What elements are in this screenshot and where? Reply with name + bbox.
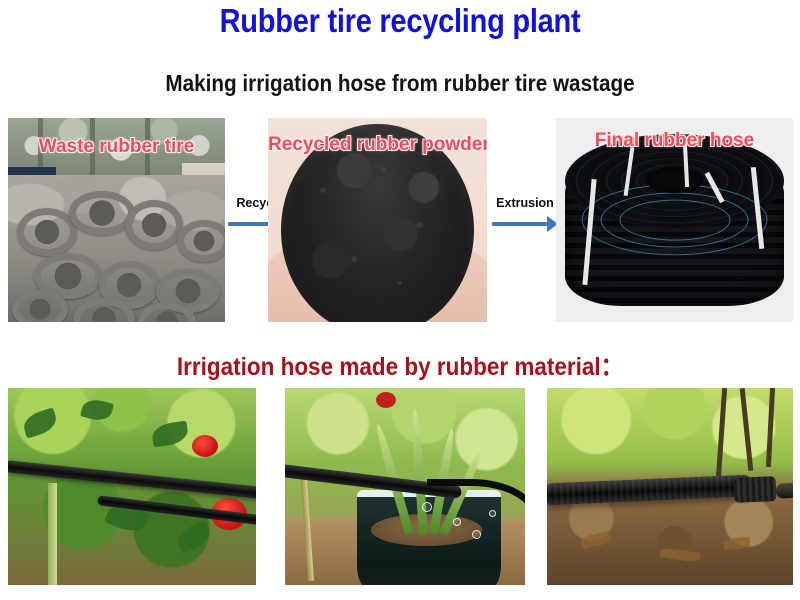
powder-grain — [351, 256, 357, 262]
hose-end-fitting — [775, 482, 793, 498]
arrow-shaft — [492, 222, 547, 226]
water-droplet-icon — [453, 518, 461, 526]
page-subtitle: Making irrigation hose from rubber tire … — [40, 70, 760, 97]
arrow-label: Extrusion — [496, 196, 554, 210]
powder-grain — [397, 281, 402, 285]
tire-icon — [177, 220, 225, 262]
powder-grain — [320, 188, 326, 193]
potted-plant-hose-photo — [285, 388, 525, 585]
flower-icon — [376, 392, 396, 408]
rubber-powder-mound — [281, 124, 474, 322]
page-title: Rubber tire recycling plant — [48, 2, 752, 40]
hose-blue-stripe — [619, 200, 730, 241]
section-heading: Irrigation hose made by rubber material： — [40, 347, 760, 383]
powder-grain — [416, 222, 423, 228]
soil-hose-coupling-photo — [547, 388, 793, 585]
tire-icon — [12, 289, 68, 322]
tire-icon — [125, 200, 183, 250]
hose-coil-photo: Final rubber hose — [556, 118, 793, 322]
garden-hose-photo — [8, 388, 256, 585]
extrusion-flow-arrow: Extrusion — [492, 196, 558, 240]
plant-stem — [48, 483, 57, 585]
water-droplet-icon — [472, 530, 481, 539]
flower-icon — [192, 435, 218, 457]
rubber-powder-photo: Recycled rubber powder — [268, 118, 487, 322]
water-droplet-icon — [422, 502, 432, 512]
tire-icon — [17, 208, 77, 256]
hose-coupling — [733, 476, 776, 503]
powder-grain — [381, 167, 386, 172]
tire-pile-photo: Waste rubber tire — [8, 118, 225, 322]
